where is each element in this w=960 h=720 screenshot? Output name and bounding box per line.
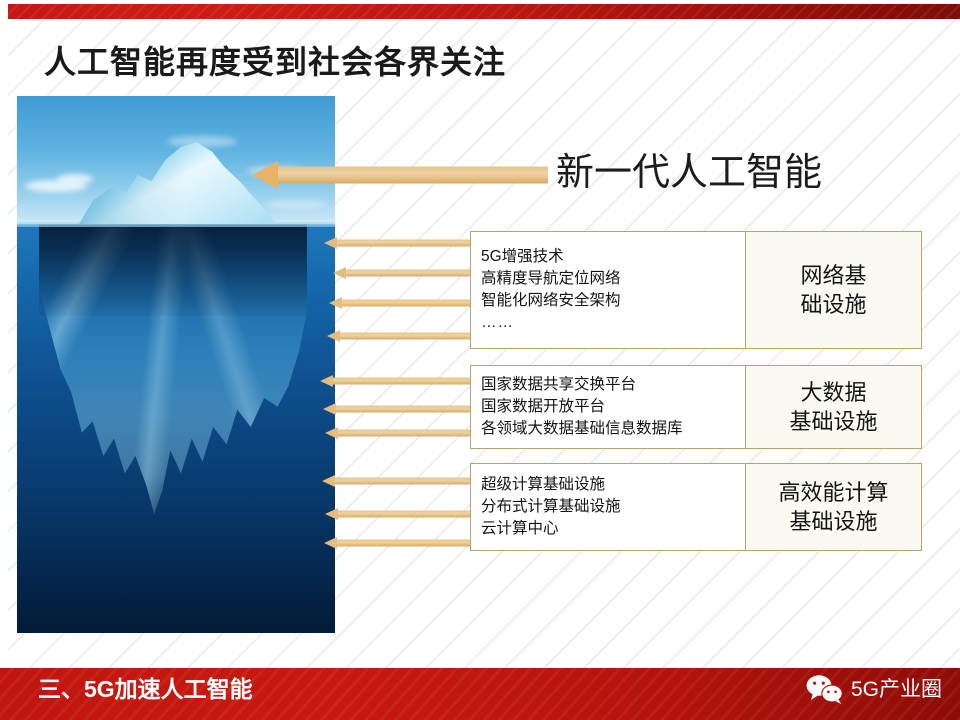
row-category-line: 基础设施 [789,507,877,536]
headline-text: 新一代人工智能 [556,154,822,192]
arrow-head [329,297,342,309]
row-category-line: 基础设施 [789,407,877,436]
slide: 人工智能再度受到社会各界关注 新一代人工智能 [0,0,960,720]
arrow-head [325,508,338,520]
cloud [167,136,237,147]
row-description-line: 超级计算基础设施 [481,474,745,496]
arrow-head [324,237,337,249]
arrow-shaft [278,167,548,184]
arrow-shaft [338,429,470,436]
content-row: 超级计算基础设施 分布式计算基础设施 云计算中心 高效能计算 基础设施 [470,463,922,551]
arrow-icon [325,427,470,438]
arrow-head [324,537,337,549]
arrow-icon [324,537,470,548]
arrow-icon [325,508,470,519]
page-title: 人工智能再度受到社会各界关注 [44,46,506,78]
arrow-shaft [342,299,470,306]
brand-name: 5G产业圈 [851,679,942,700]
arrow-head [325,427,338,439]
arrow-shaft [337,539,470,546]
row-description-box: 5G增强技术 高精度导航定位网络 智能化网络安全架构 …… [470,231,746,349]
arrow-icon [320,375,470,386]
row-category-label: 网络基 础设施 [746,231,922,349]
row-description-line: 国家数据开放平台 [481,396,745,418]
section-label: 三、5G加速人工智能 [38,678,253,701]
content-row: 国家数据共享交换平台 国家数据开放平台 各领域大数据基础信息数据库 大数据 基础… [470,365,922,449]
arrow-shaft [340,332,470,339]
arrow-head [327,330,340,342]
row-category-label: 大数据 基础设施 [746,365,922,449]
arrow-shaft [336,405,470,412]
row-description-line: 分布式计算基础设施 [481,496,745,518]
row-description-line: 云计算中心 [481,518,745,540]
arrow-shaft [337,239,470,246]
arrow-icon-headline [252,162,548,188]
arrow-icon [327,330,470,341]
row-description-line: 各领域大数据基础信息数据库 [481,418,745,440]
row-category-label: 高效能计算 基础设施 [746,463,922,551]
row-category-line: 础设施 [800,290,866,319]
content-row: 5G增强技术 高精度导航定位网络 智能化网络安全架构 …… 网络基 础设施 [470,231,922,349]
footer-bar: 三、5G加速人工智能 5G产业圈 [0,668,960,720]
row-category-line: 网络基 [800,261,866,290]
arrow-head [333,267,346,279]
brand-block: 5G产业圈 [805,674,942,704]
arrow-icon [333,267,470,278]
arrow-icon [324,237,470,248]
row-description-line: 智能化网络安全架构 [481,290,745,312]
arrow-icon [323,403,470,414]
arrow-shaft [335,477,470,484]
arrow-shaft [338,510,470,517]
cloud [57,174,93,184]
arrow-shaft [346,269,470,276]
arrow-head [322,475,335,487]
row-description-line: …… [481,312,745,334]
arrow-head [323,403,336,415]
row-category-line: 大数据 [800,378,866,407]
arrow-shaft [333,377,470,384]
row-description-box: 国家数据共享交换平台 国家数据开放平台 各领域大数据基础信息数据库 [470,365,746,449]
row-description-line: 国家数据共享交换平台 [481,374,745,396]
row-description-box: 超级计算基础设施 分布式计算基础设施 云计算中心 [470,463,746,551]
row-description-line: 高精度导航定位网络 [481,268,745,290]
wechat-icon [805,674,845,704]
row-category-line: 高效能计算 [778,478,888,507]
arrow-head [320,375,333,387]
iceberg-shadow [39,224,307,316]
row-description-line: 5G增强技术 [481,246,745,268]
arrow-head [252,161,278,189]
arrow-icon [329,297,470,308]
cloud [267,200,327,208]
top-accent-bar [8,4,960,19]
arrow-icon [322,475,470,486]
